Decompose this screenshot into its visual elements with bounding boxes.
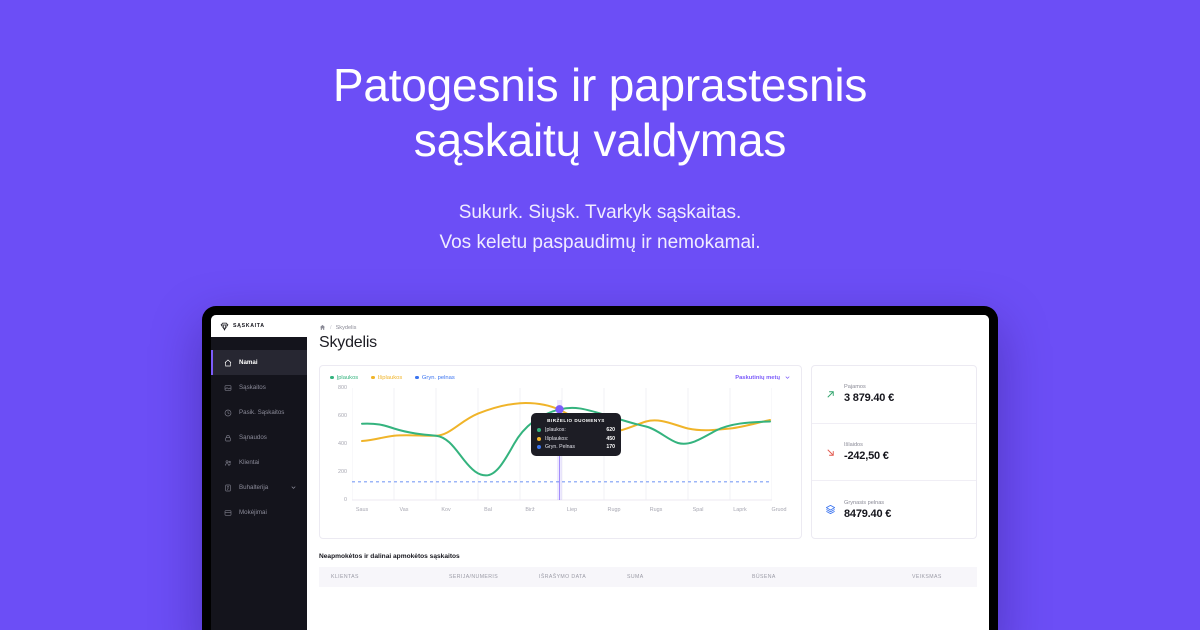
hero-title-line-2: sąskaitų valdymas bbox=[0, 113, 1200, 168]
tooltip-value: 450 bbox=[606, 436, 615, 442]
tooltip-row: Gryn. Pelnas 170 bbox=[537, 444, 615, 450]
tooltip-dot-icon bbox=[537, 437, 541, 441]
sidebar-item-label: Namai bbox=[239, 359, 258, 366]
hero-subtitle-line-1: Sukurk. Siųsk. Tvarkyk sąskaitas. bbox=[0, 198, 1200, 228]
app-screen: SĄSKAITA Namai Sąskaitos Pasik. Sąskaito… bbox=[211, 315, 989, 630]
arrow-up-right-icon bbox=[825, 389, 836, 400]
range-selector[interactable]: Paskutinių metų bbox=[735, 374, 791, 381]
sidebar: SĄSKAITA Namai Sąskaitos Pasik. Sąskaito… bbox=[211, 315, 307, 630]
legend-label: Išplaukos bbox=[378, 375, 403, 381]
book-icon bbox=[224, 484, 232, 492]
hero-section: Patogesnis ir paprastesnis sąskaitų vald… bbox=[0, 0, 1200, 258]
y-axis-tick: 0 bbox=[330, 497, 347, 503]
breadcrumb: / Skydelis bbox=[319, 324, 977, 331]
x-axis-tick: Birž bbox=[525, 507, 534, 513]
x-axis-tick: Saus bbox=[356, 507, 368, 513]
tooltip-value: 170 bbox=[606, 444, 615, 450]
sidebar-item-label: Sąskaitos bbox=[239, 384, 266, 391]
tooltip-label: Gryn. Pelnas bbox=[545, 444, 575, 450]
dashboard-title: Skydelis bbox=[319, 334, 977, 352]
sidebar-item-sanaudos[interactable]: Sąnaudos bbox=[211, 425, 307, 450]
sidebar-item-label: Klientai bbox=[239, 459, 259, 466]
home-icon bbox=[224, 359, 232, 367]
stat-card-pajamos: Pajamos 3 879.40 € bbox=[812, 366, 976, 424]
chart-header: Įplaukos Išplaukos Gryn. pelnas Paskutin… bbox=[330, 374, 791, 381]
home-icon[interactable] bbox=[319, 324, 326, 331]
legend-item-iplaukos[interactable]: Įplaukos bbox=[330, 375, 358, 381]
sidebar-item-label: Pasik. Sąskaitos bbox=[239, 409, 284, 416]
legend-dot-icon bbox=[371, 376, 375, 380]
app-logo-text: SĄSKAITA bbox=[233, 323, 265, 329]
breadcrumb-current[interactable]: Skydelis bbox=[336, 325, 357, 331]
breadcrumb-separator: / bbox=[330, 325, 332, 331]
tooltip-label: Išplaukos: bbox=[545, 436, 568, 442]
y-axis-tick: 600 bbox=[330, 413, 347, 419]
tooltip-row: Įplaukos: 620 bbox=[537, 427, 615, 433]
legend-item-gryn-pelnas[interactable]: Gryn. pelnas bbox=[415, 375, 454, 381]
table-column-header[interactable]: KLIENTAS bbox=[319, 574, 449, 580]
x-axis-tick: Liep bbox=[567, 507, 577, 513]
hero-subtitle: Sukurk. Siųsk. Tvarkyk sąskaitas. Vos ke… bbox=[0, 198, 1200, 258]
chart-legend: Įplaukos Išplaukos Gryn. pelnas bbox=[330, 375, 455, 381]
clock-icon bbox=[224, 409, 232, 417]
legend-dot-icon bbox=[415, 376, 419, 380]
users-icon bbox=[224, 459, 232, 467]
tooltip-row: Išplaukos: 450 bbox=[537, 436, 615, 442]
chart-card: Įplaukos Išplaukos Gryn. pelnas Paskutin… bbox=[319, 365, 802, 539]
x-axis-tick: Kov bbox=[441, 507, 450, 513]
app-logo[interactable]: SĄSKAITA bbox=[211, 315, 307, 337]
tooltip-dot-icon bbox=[537, 445, 541, 449]
stat-label: Išlaidos bbox=[844, 442, 889, 448]
tooltip-value: 620 bbox=[606, 427, 615, 433]
x-axis-tick: Vas bbox=[400, 507, 409, 513]
table-header-row: KLIENTAS SERIJA/NUMERIS IŠRAŠYMO DATA SU… bbox=[319, 567, 977, 587]
tooltip-label: Įplaukos: bbox=[545, 427, 566, 433]
chevron-down-icon bbox=[784, 374, 791, 381]
stats-panel: Pajamos 3 879.40 € Išlaidos -242,50 € Gr… bbox=[811, 365, 977, 539]
stat-card-grynasis-pelnas: Grynasis pelnas 8479.40 € bbox=[812, 481, 976, 538]
stat-value: 3 879.40 € bbox=[844, 392, 894, 404]
layers-icon bbox=[825, 504, 836, 515]
sidebar-item-klientai[interactable]: Klientai bbox=[211, 450, 307, 475]
x-axis-tick: Rugp bbox=[608, 507, 621, 513]
hero-title-line-1: Patogesnis ir paprastesnis bbox=[0, 58, 1200, 113]
card-icon bbox=[224, 509, 232, 517]
tooltip-dot-icon bbox=[537, 428, 541, 432]
x-axis-tick: Bal bbox=[484, 507, 492, 513]
legend-label: Gryn. pelnas bbox=[422, 375, 455, 381]
lock-icon bbox=[224, 434, 232, 442]
main-content: / Skydelis Skydelis Įplaukos Išplaukos bbox=[307, 315, 989, 630]
sidebar-item-pasik-saskaitos[interactable]: Pasik. Sąskaitos bbox=[211, 400, 307, 425]
invoice-icon bbox=[224, 384, 232, 392]
chart-plot-area: 800 600 400 200 0 bbox=[330, 385, 791, 520]
device-mockup: SĄSKAITA Namai Sąskaitos Pasik. Sąskaito… bbox=[202, 306, 998, 630]
stat-label: Pajamos bbox=[844, 384, 894, 390]
legend-dot-icon bbox=[330, 376, 334, 380]
table-column-header[interactable]: SUMA bbox=[627, 574, 752, 580]
x-axis-tick: Rugs bbox=[650, 507, 663, 513]
sidebar-item-saskaitos[interactable]: Sąskaitos bbox=[211, 375, 307, 400]
table-column-header[interactable]: BŪSENA bbox=[752, 574, 912, 580]
range-selector-label: Paskutinių metų bbox=[735, 375, 780, 381]
x-axis-tick: Spal bbox=[693, 507, 704, 513]
legend-label: Įplaukos bbox=[337, 375, 359, 381]
chart-tooltip: BIRŽELIO DUOMENYS Įplaukos: 620 Išplauko… bbox=[531, 413, 621, 456]
sidebar-nav: Namai Sąskaitos Pasik. Sąskaitos Sąnaudo… bbox=[211, 337, 307, 525]
y-axis-tick: 400 bbox=[330, 441, 347, 447]
chevron-down-icon[interactable] bbox=[290, 484, 297, 491]
sidebar-item-buhalterija[interactable]: Buhalterija bbox=[211, 475, 307, 500]
page-title: Patogesnis ir paprastesnis sąskaitų vald… bbox=[0, 58, 1200, 168]
arrow-down-right-icon bbox=[825, 447, 836, 458]
stat-card-islaidos: Išlaidos -242,50 € bbox=[812, 424, 976, 482]
y-axis-tick: 200 bbox=[330, 469, 347, 475]
table-title: Neapmokėtos ir dalinai apmokėtos sąskait… bbox=[319, 553, 977, 560]
dashboard-panels: Įplaukos Išplaukos Gryn. pelnas Paskutin… bbox=[319, 365, 977, 539]
sidebar-item-label: Sąnaudos bbox=[239, 434, 267, 441]
stat-value: -242,50 € bbox=[844, 450, 889, 462]
table-column-header[interactable]: SERIJA/NUMERIS bbox=[449, 574, 539, 580]
x-axis-tick: Gruod bbox=[772, 507, 787, 513]
tooltip-title: BIRŽELIO DUOMENYS bbox=[537, 418, 615, 423]
x-axis-tick: Laprk bbox=[733, 507, 747, 513]
y-axis-tick: 800 bbox=[330, 385, 347, 391]
sidebar-item-mokejimai[interactable]: Mokėjimai bbox=[211, 500, 307, 525]
sidebar-item-namai[interactable]: Namai bbox=[211, 350, 307, 375]
stat-value: 8479.40 € bbox=[844, 508, 891, 520]
stat-label: Grynasis pelnas bbox=[844, 500, 891, 506]
sidebar-item-label: Mokėjimai bbox=[239, 509, 267, 516]
diamond-icon bbox=[220, 322, 229, 331]
table-column-header[interactable]: IŠRAŠYMO DATA bbox=[539, 574, 627, 580]
hero-subtitle-line-2: Vos keletu paspaudimų ir nemokamai. bbox=[0, 228, 1200, 258]
legend-item-isplaukos[interactable]: Išplaukos bbox=[371, 375, 402, 381]
table-column-header[interactable]: VEIKSMAS bbox=[912, 574, 972, 580]
sidebar-item-label: Buhalterija bbox=[239, 484, 268, 491]
